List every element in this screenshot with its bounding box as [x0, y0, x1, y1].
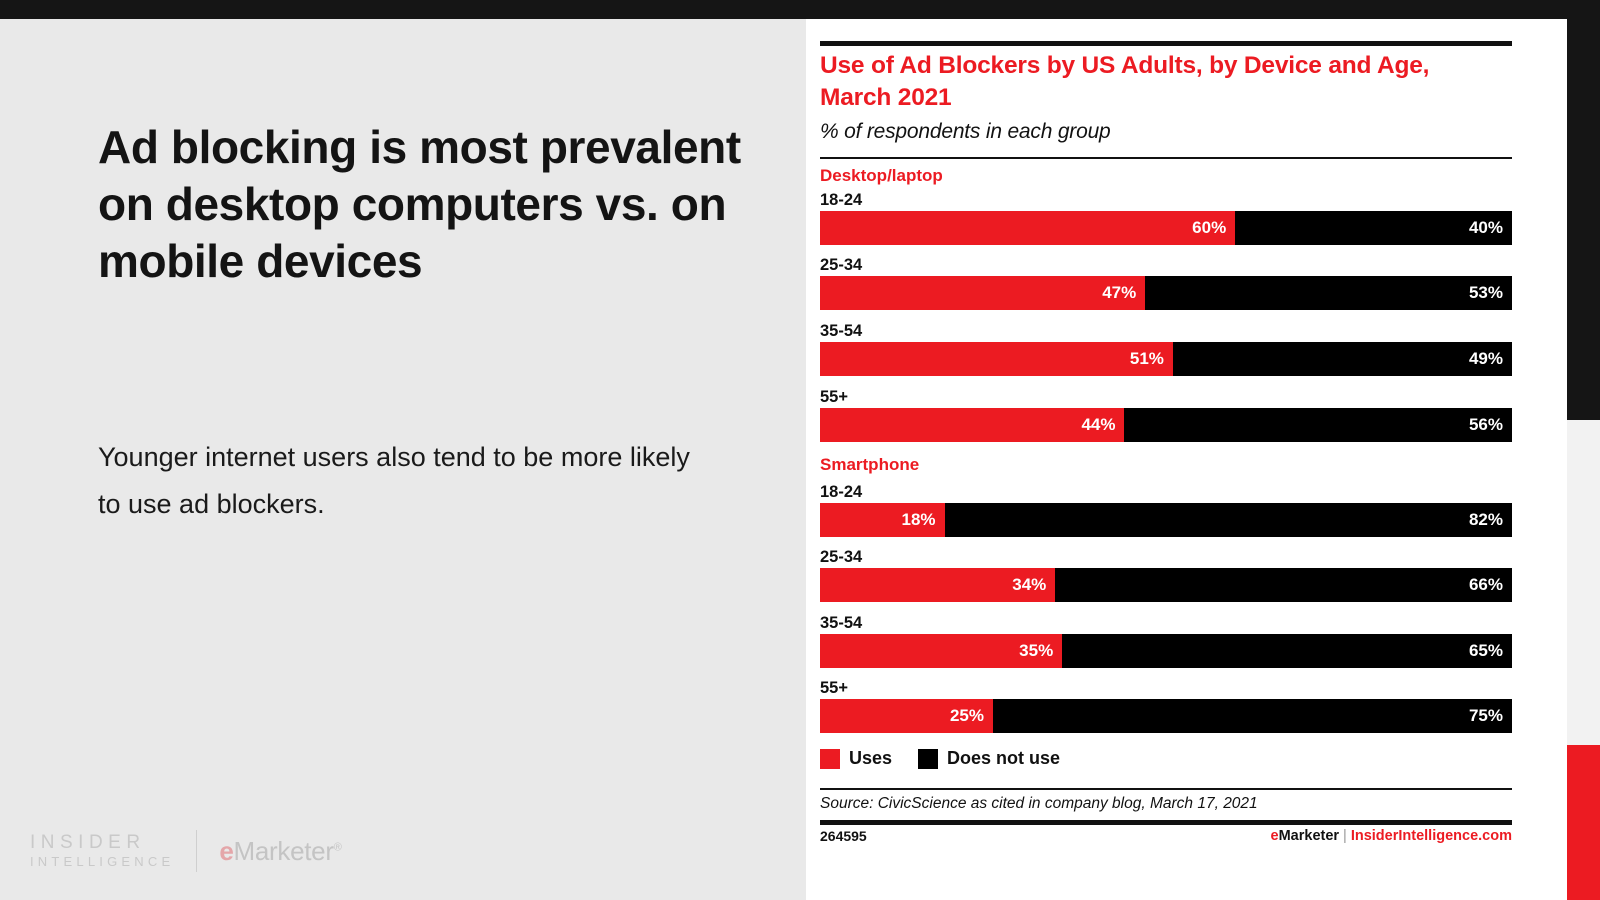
right-edge-grey-band — [1567, 420, 1600, 745]
category-label-desktop-25-34: 25-34 — [820, 256, 862, 275]
chart-source-note: Source: CivicScience as cited in company… — [820, 795, 1258, 813]
category-label-smartphone-55-plus: 55+ — [820, 679, 848, 698]
bar-row-smartphone-55-plus[interactable]: 25% 75% — [820, 699, 1512, 733]
bar-segment-does-not-use[interactable]: 56% — [1124, 408, 1512, 442]
source-top-rule — [820, 788, 1512, 790]
right-edge-black-band — [1567, 19, 1600, 420]
footer-rule — [820, 820, 1512, 825]
bar-row-desktop-35-54[interactable]: 51% 49% — [820, 342, 1512, 376]
category-label-desktop-18-24: 18-24 — [820, 191, 862, 210]
chart-header-rule — [820, 157, 1512, 159]
legend-swatch-icon-uses — [820, 749, 840, 769]
bar-segment-uses[interactable]: 35% — [820, 634, 1062, 668]
logo-emarketer-rest: Marketer — [234, 836, 334, 866]
trademark-icon: ® — [334, 841, 342, 853]
logo-divider — [196, 830, 197, 872]
chart-legend: Uses Does not use — [820, 748, 1060, 769]
footer-brand-e: e — [1271, 828, 1279, 844]
footer-separator: | — [1339, 828, 1351, 844]
legend-label-does-not-use: Does not use — [947, 748, 1060, 769]
category-label-smartphone-18-24: 18-24 — [820, 483, 862, 502]
bar-segment-uses[interactable]: 51% — [820, 342, 1173, 376]
bar-row-smartphone-18-24[interactable]: 18% 82% — [820, 503, 1512, 537]
bar-segment-does-not-use[interactable]: 66% — [1055, 568, 1512, 602]
chart-top-rule — [820, 41, 1512, 46]
brand-logo-lockup: INSIDER INTELLIGENCE eMarketer® — [30, 830, 342, 872]
category-label-smartphone-35-54: 35-54 — [820, 614, 862, 633]
bar-segment-does-not-use[interactable]: 82% — [945, 503, 1512, 537]
top-accent-band — [0, 0, 1600, 19]
legend-label-uses: Uses — [849, 748, 892, 769]
chart-title: Use of Ad Blockers by US Adults, by Devi… — [820, 50, 1480, 115]
category-label-smartphone-25-34: 25-34 — [820, 548, 862, 567]
bar-row-desktop-18-24[interactable]: 60% 40% — [820, 211, 1512, 245]
bar-row-smartphone-35-54[interactable]: 35% 65% — [820, 634, 1512, 668]
bar-row-smartphone-25-34[interactable]: 34% 66% — [820, 568, 1512, 602]
legend-item-uses[interactable]: Uses — [820, 748, 892, 769]
footer-brand-rest: Marketer — [1279, 828, 1339, 844]
bar-segment-uses[interactable]: 34% — [820, 568, 1055, 602]
bar-row-desktop-55-plus[interactable]: 44% 56% — [820, 408, 1512, 442]
bar-segment-does-not-use[interactable]: 49% — [1173, 342, 1512, 376]
footer-website-link[interactable]: InsiderIntelligence.com — [1351, 828, 1512, 844]
bar-segment-uses[interactable]: 25% — [820, 699, 993, 733]
page-title: Ad blocking is most prevalent on desktop… — [98, 119, 748, 290]
bar-segment-does-not-use[interactable]: 53% — [1145, 276, 1512, 310]
group-label-desktop: Desktop/laptop — [820, 166, 943, 186]
insider-intelligence-logo: INSIDER INTELLIGENCE — [30, 831, 174, 872]
logo-insider-line2: INTELLIGENCE — [30, 854, 174, 871]
bar-segment-does-not-use[interactable]: 65% — [1062, 634, 1512, 668]
legend-swatch-icon-does-not-use — [918, 749, 938, 769]
logo-emarketer-e: e — [219, 836, 233, 866]
bar-segment-uses[interactable]: 47% — [820, 276, 1145, 310]
emarketer-logo: eMarketer® — [219, 836, 341, 867]
bar-segment-uses[interactable]: 18% — [820, 503, 945, 537]
legend-item-does-not-use[interactable]: Does not use — [918, 748, 1060, 769]
category-label-desktop-55-plus: 55+ — [820, 388, 848, 407]
bar-segment-uses[interactable]: 60% — [820, 211, 1235, 245]
footer-brand: eMarketer|InsiderIntelligence.com — [1271, 828, 1512, 844]
bar-segment-does-not-use[interactable]: 40% — [1235, 211, 1512, 245]
right-edge-red-band — [1567, 745, 1600, 900]
bar-row-desktop-25-34[interactable]: 47% 53% — [820, 276, 1512, 310]
chart-id-number: 264595 — [820, 828, 867, 844]
left-text-panel: Ad blocking is most prevalent on desktop… — [0, 19, 806, 900]
category-label-desktop-35-54: 35-54 — [820, 322, 862, 341]
bar-segment-does-not-use[interactable]: 75% — [993, 699, 1512, 733]
slide-root: Ad blocking is most prevalent on desktop… — [0, 0, 1600, 900]
chart-subtitle: % of respondents in each group — [820, 120, 1111, 144]
subheadline-text: Younger internet users also tend to be m… — [98, 434, 698, 529]
logo-insider-line1: INSIDER — [30, 831, 174, 855]
group-label-smartphone: Smartphone — [820, 455, 919, 475]
bar-segment-uses[interactable]: 44% — [820, 408, 1124, 442]
